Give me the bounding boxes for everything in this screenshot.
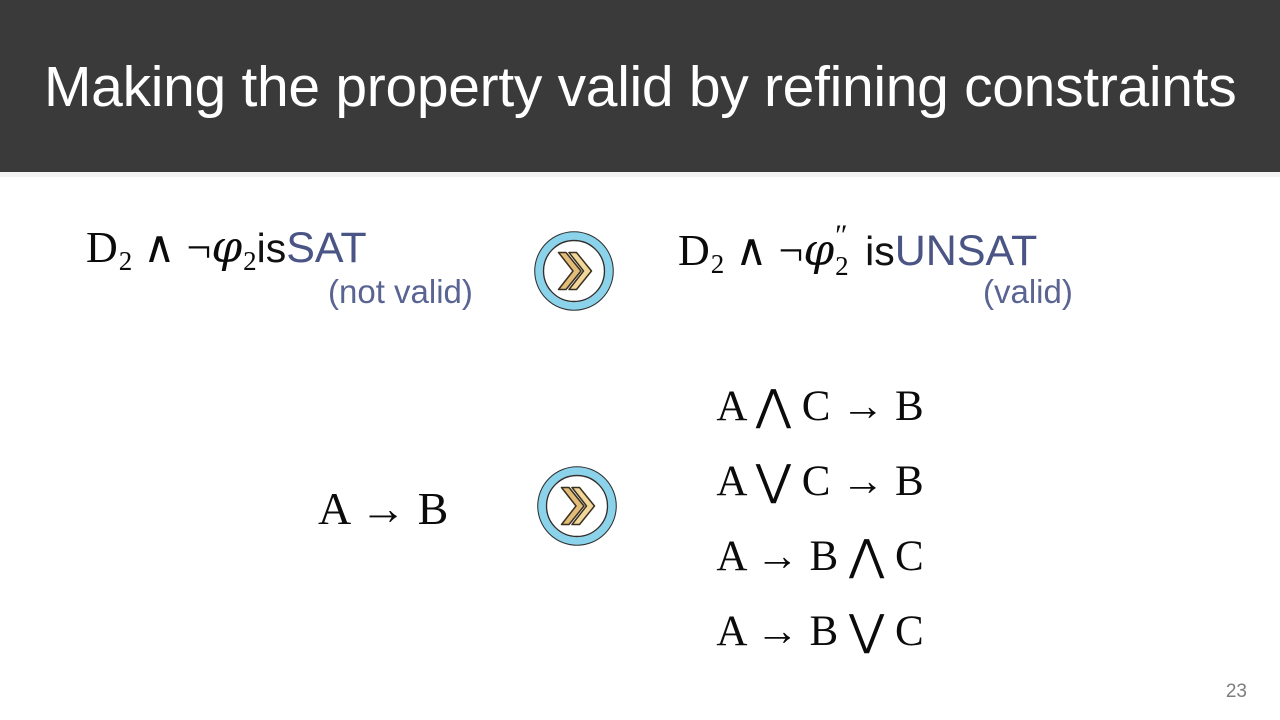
statement-right-verdict: UNSAT [895,227,1038,275]
formula-left-phi-subscript: 2 [242,246,257,276]
simple-formula: A → B [318,482,448,535]
formula-right-negation: ¬ [779,226,804,275]
statement-right-note: (valid) [983,273,1073,311]
formula-left-d: D [86,223,118,272]
formula-right-d-subscript: 2 [710,249,725,279]
formula-left: D2 ∧ ¬φ2 [86,223,257,272]
formula-left-phi: φ [211,222,242,273]
list-item: A ⋁ C → B [660,444,980,519]
statement-right-is-word: is [865,228,895,274]
refined-constraints-list: A ⋀ C → B A ⋁ C → B A → B ⋀ C A → B ⋁ C [660,369,980,669]
formula-right-phi-subscript: 2 [835,239,849,293]
double-chevron-right-badge-icon-bottom [536,465,618,547]
formula-right-phi: φ [803,225,834,276]
list-item: A → B ⋁ C [660,594,980,669]
statement-left-note: (not valid) [328,273,473,311]
double-chevron-right-badge-icon-top [533,230,615,312]
formula-right: D2 ∧ ¬φ″2 [678,226,865,275]
formula-right-d: D [678,226,710,275]
list-item: A → B ⋀ C [660,519,980,594]
formula-left-d-subscript: 2 [118,246,133,276]
formula-left-negation: ¬ [187,223,212,272]
statements-row: D2 ∧ ¬φ2isSAT (not valid) D2 ∧ ¬φ″2 isUN… [0,177,1280,357]
formula-right-conjunction: ∧ [735,226,767,275]
formula-right-phi-scripts: ″2 [834,221,854,265]
formula-left-conjunction: ∧ [143,223,175,272]
page-title: Making the property valid by refining co… [44,52,1254,122]
statement-left-verdict: SAT [286,224,366,272]
statement-left: D2 ∧ ¬φ2isSAT [86,221,367,288]
statement-left-is-word: is [257,225,287,271]
page-number: 23 [1226,681,1247,703]
list-item: A ⋀ C → B [660,369,980,444]
slide-body: D2 ∧ ¬φ2isSAT (not valid) D2 ∧ ¬φ″2 isUN… [0,177,1280,720]
